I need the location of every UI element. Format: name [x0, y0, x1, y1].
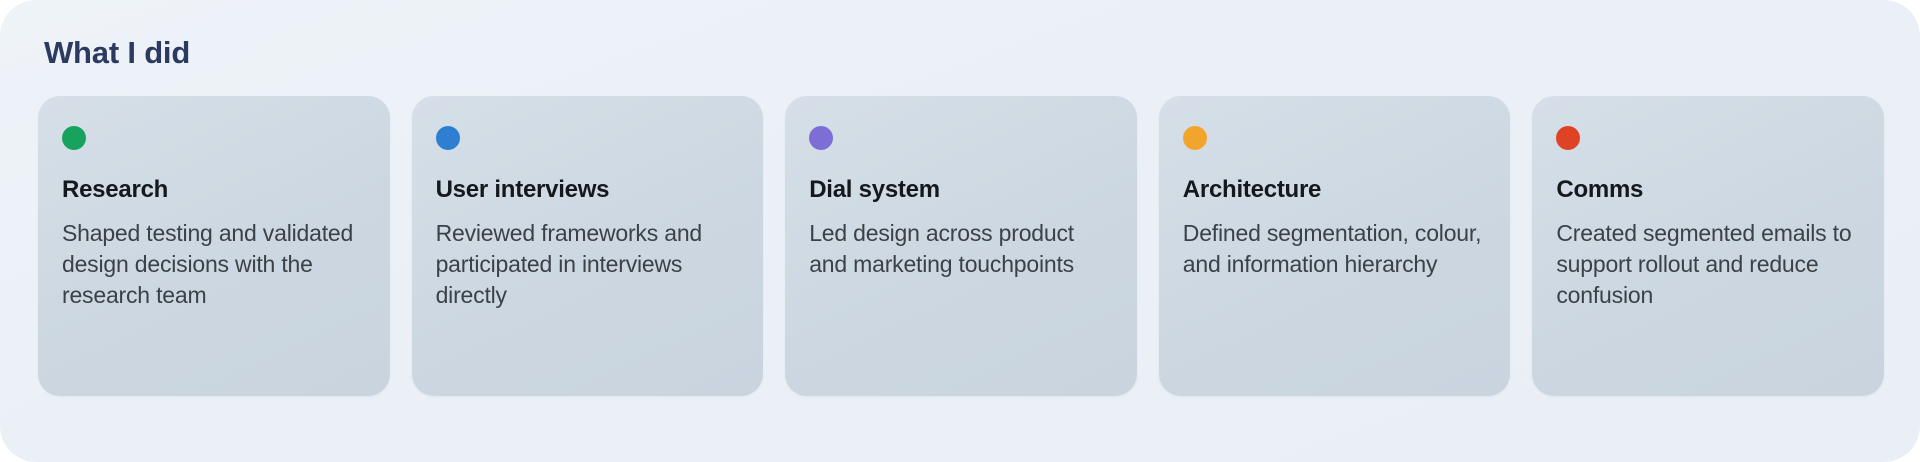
contribution-card-description: Reviewed frameworks and participated in …	[436, 218, 740, 312]
contribution-card-description: Created segmented emails to support roll…	[1556, 218, 1860, 312]
status-dot-red	[1556, 126, 1580, 150]
what-i-did-panel: What I did Research Shaped testing and v…	[0, 0, 1920, 462]
contribution-card-title: Dial system	[809, 176, 1113, 204]
contribution-card: Research Shaped testing and validated de…	[38, 96, 390, 396]
contribution-card-title: Architecture	[1183, 176, 1487, 204]
contribution-card-description: Defined segmentation, colour, and inform…	[1183, 218, 1487, 281]
contribution-card-description: Led design across product and marketing …	[809, 218, 1113, 281]
contribution-card-title: User interviews	[436, 176, 740, 204]
page-title: What I did	[44, 30, 1884, 70]
status-dot-blue	[436, 126, 460, 150]
status-dot-amber	[1183, 126, 1207, 150]
contribution-card: User interviews Reviewed frameworks and …	[412, 96, 764, 396]
contribution-card-title: Research	[62, 176, 366, 204]
contribution-card: Dial system Led design across product an…	[785, 96, 1137, 396]
contribution-card-list: Research Shaped testing and validated de…	[38, 96, 1884, 396]
contribution-card-title: Comms	[1556, 176, 1860, 204]
status-dot-green	[62, 126, 86, 150]
contribution-card: Comms Created segmented emails to suppor…	[1532, 96, 1884, 396]
status-dot-purple	[809, 126, 833, 150]
contribution-card-description: Shaped testing and validated design deci…	[62, 218, 366, 312]
contribution-card: Architecture Defined segmentation, colou…	[1159, 96, 1511, 396]
